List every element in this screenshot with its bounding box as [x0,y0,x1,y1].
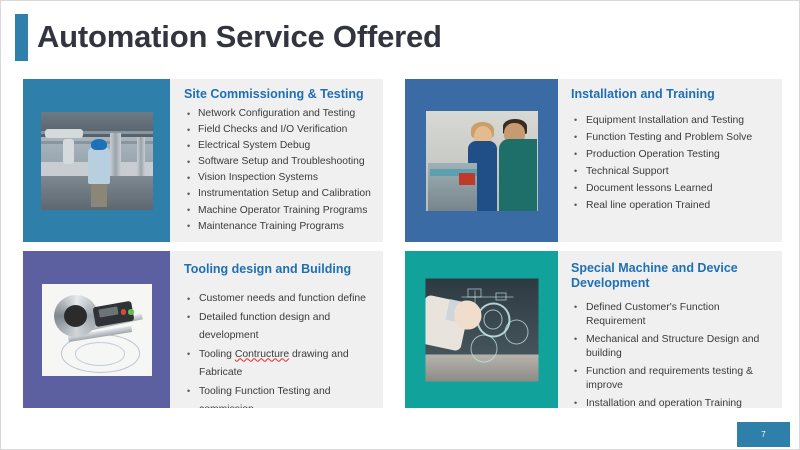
list-item: Document lessons Learned [571,180,772,197]
card-text-panel: Special Machine and Device Development D… [558,251,782,408]
card-text-panel: Tooling design and Building Customer nee… [170,251,383,408]
list-item: Equipment Installation and Testing [571,112,772,129]
misspelled-word: Contructure [235,349,289,360]
card-tooling-design-and-building[interactable]: Tooling design and Building Customer nee… [23,251,383,408]
bullet-text-prefix: Tooling [199,349,235,360]
card-bullet-list: Network Configuration and Testing Field … [184,106,373,235]
slide: Automation Service Offered Site Commissi… [0,0,800,450]
list-item: Customer needs and function define [184,290,373,309]
factory-worker-blue-hardhat-photo [41,112,153,210]
list-item: Tooling Function Testing and commission [184,383,373,409]
card-bullet-list: Defined Customer's Function Requirement … [571,301,772,408]
list-item: Function Testing and Problem Solve [571,129,772,146]
bearing-and-digital-caliper-on-drawing-photo [42,284,152,376]
two-engineers-at-machine-photo [426,111,538,211]
list-item: Machine Operator Training Programs [184,203,373,219]
card-site-commissioning-testing[interactable]: Site Commissioning & Testing Network Con… [23,79,383,242]
page-title: Automation Service Offered [37,15,442,59]
list-item: Detailed function design and development [184,309,373,346]
list-item: Installation and operation Training [571,397,772,408]
slide-title-row: Automation Service Offered [1,1,800,69]
list-item: Real line operation Trained [571,197,772,214]
list-item: Vision Inspection Systems [184,170,373,186]
list-item: Field Checks and I/O Verification [184,122,373,138]
hand-with-holographic-gears-photo [425,278,538,381]
list-item: Technical Support [571,163,772,180]
card-image-panel [23,79,170,242]
card-heading: Special Machine and Device Development [571,261,756,291]
title-accent-bar [15,14,28,61]
card-bullet-list: Equipment Installation and Testing Funct… [571,112,772,214]
card-heading: Installation and Training [571,87,772,102]
card-special-machine-and-device-development[interactable]: Special Machine and Device Development D… [405,251,782,408]
list-item: Electrical System Debug [184,138,373,154]
card-heading: Tooling design and Building [184,262,373,277]
list-item: Production Operation Testing [571,146,772,163]
card-installation-and-training[interactable]: Installation and Training Equipment Inst… [405,79,782,242]
card-text-panel: Site Commissioning & Testing Network Con… [170,79,383,242]
card-image-panel [23,251,170,408]
list-item: Network Configuration and Testing [184,106,373,122]
card-image-panel [405,79,558,242]
card-bullet-list: Customer needs and function define Detai… [184,290,373,408]
card-text-panel: Installation and Training Equipment Inst… [558,79,782,242]
card-heading: Site Commissioning & Testing [184,87,373,102]
card-image-panel [405,251,558,408]
list-item: Instrumentation Setup and Calibration [184,186,373,202]
list-item: Maintenance Training Programs [184,219,373,235]
list-item: Software Setup and Troubleshooting [184,154,373,170]
list-item: Defined Customer's Function Requirement [571,301,772,328]
list-item: Function and requirements testing & impr… [571,365,772,392]
list-item-misspelled: Tooling Contructure drawing and Fabricat… [184,346,373,383]
page-number-badge: 7 [737,422,790,447]
list-item: Mechanical and Structure Design and buil… [571,333,772,360]
